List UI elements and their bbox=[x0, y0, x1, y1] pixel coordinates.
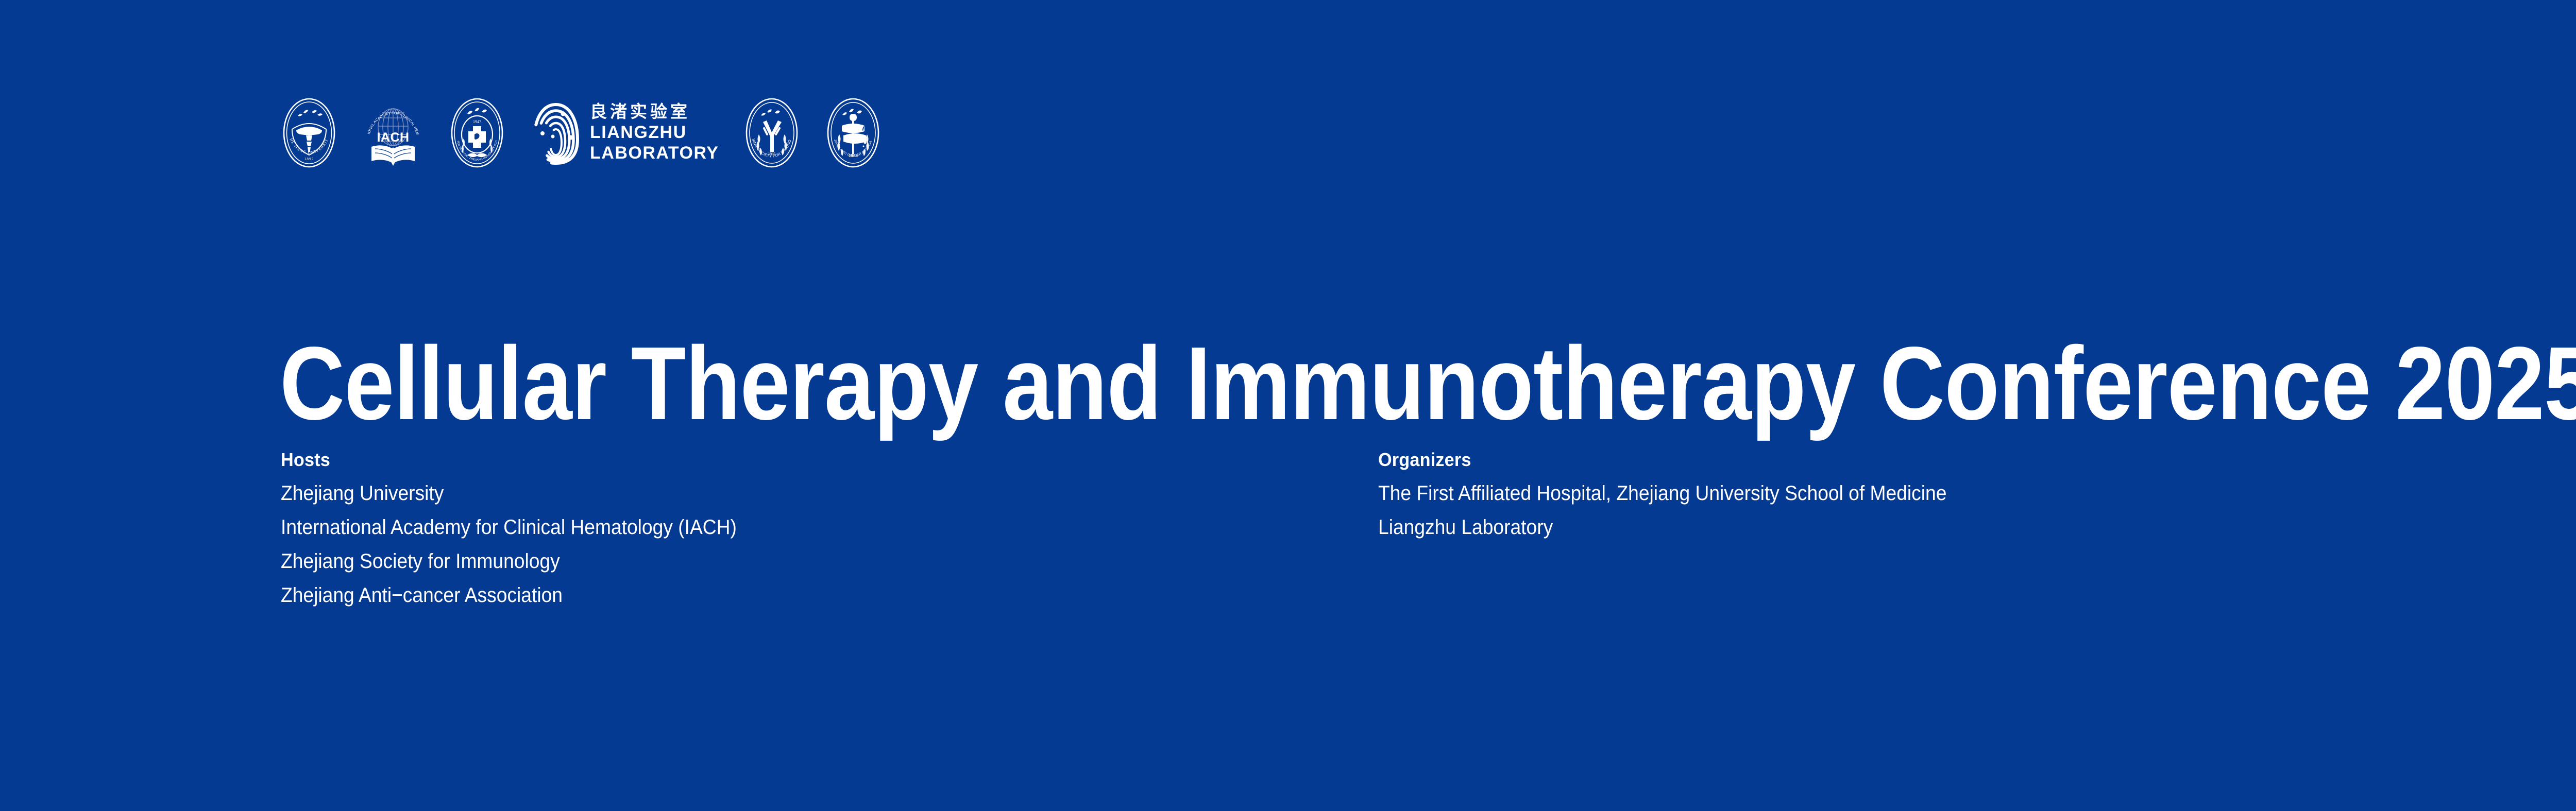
hosts-heading: Hosts bbox=[281, 449, 1324, 471]
host-item: International Academy for Clinical Hemat… bbox=[281, 517, 1301, 538]
organizer-item: The First Affiliated Hospital, Zhejiang … bbox=[1378, 483, 1946, 504]
liangzhu-en-line1: LIANGZHU bbox=[590, 122, 719, 143]
host-item: Zhejiang Society for Immunology bbox=[281, 551, 1301, 572]
conference-title: Cellular Therapy and Immunotherapy Confe… bbox=[280, 331, 2553, 435]
liangzhu-mark-icon bbox=[530, 97, 582, 168]
iach-logo: IACH INTERNATIONAL ACADEMY FOR CLINICAL … bbox=[362, 97, 424, 168]
organizer-item: Liangzhu Laboratory bbox=[1378, 517, 1946, 538]
organizers-column: Organizers The First Affiliated Hospital… bbox=[1378, 449, 1989, 619]
hosts-column: Hosts Zhejiang University International … bbox=[281, 449, 1378, 619]
zhejiang-anti-cancer-association-logo: 1986 ZHEJIANG ANTI CANCER ASSOCIATION bbox=[825, 97, 882, 168]
liangzhu-laboratory-logo: 良渚实验室 LIANGZHU LABORATORY bbox=[530, 97, 719, 168]
host-item: Zhejiang Anti−cancer Association bbox=[281, 585, 1301, 606]
svg-text:IACH: IACH bbox=[377, 130, 409, 145]
host-item: Zhejiang University bbox=[281, 483, 1301, 504]
svg-text:ZHE JIANG UNIVERSITY: ZHE JIANG UNIVERSITY bbox=[281, 97, 329, 155]
svg-text:1947: 1947 bbox=[473, 119, 481, 124]
host-logo-strip: 1897 ZHE JIANG UNIVERSITY IACH bbox=[281, 97, 882, 169]
organizers-heading: Organizers bbox=[1378, 449, 1959, 471]
liangzhu-cn-label: 良渚实验室 bbox=[590, 102, 719, 122]
conference-banner: 1897 ZHE JIANG UNIVERSITY IACH bbox=[0, 0, 2576, 811]
liangzhu-en-line2: LABORATORY bbox=[590, 143, 719, 163]
svg-text:INTERNATIONAL ACADEMY FOR CLIN: INTERNATIONAL ACADEMY FOR CLINICAL HEMAT… bbox=[362, 97, 419, 135]
svg-text:1897: 1897 bbox=[304, 157, 314, 161]
first-affiliated-hospital-logo: 1947 THE FIRST AFFILIAT bbox=[449, 97, 505, 168]
zhejiang-university-logo: 1897 ZHE JIANG UNIVERSITY bbox=[281, 97, 337, 168]
credits-section: Hosts Zhejiang University International … bbox=[281, 449, 1989, 619]
zhejiang-society-for-immunology-logo: 1995 ZHEJIANG SOCIETY FOR IMMUNOLOGY bbox=[743, 97, 800, 168]
